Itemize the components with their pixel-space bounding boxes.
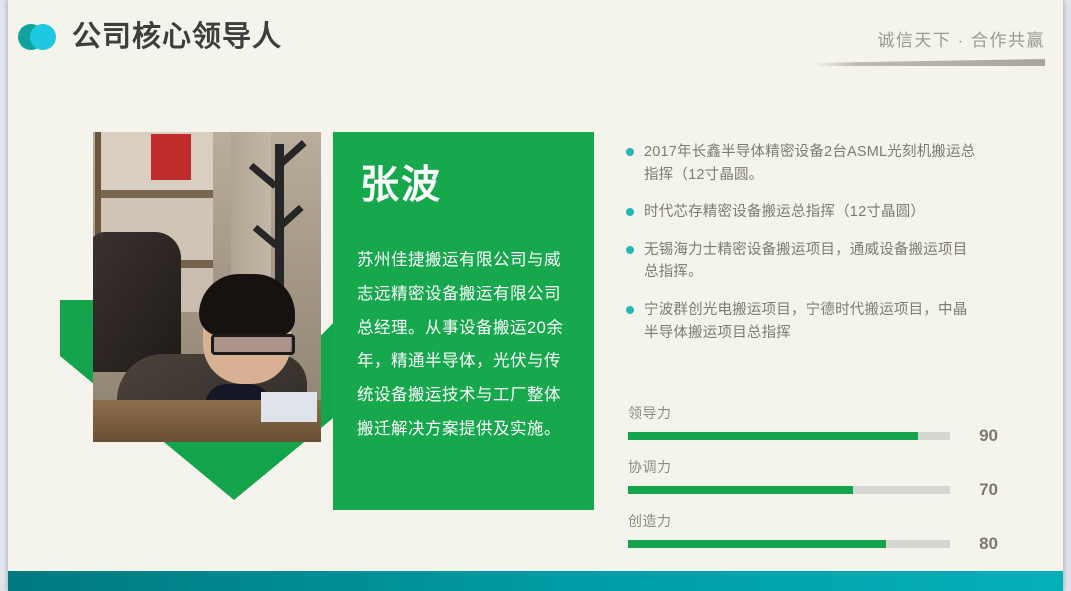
footer-bar <box>8 571 1063 591</box>
achievement-text: 宁波群创光电搬运项目，宁德时代搬运项目，中晶半导体搬运项目总指挥 <box>644 302 967 341</box>
skill-progress-fill <box>628 540 886 548</box>
skill-value: 80 <box>958 535 998 552</box>
skill-row: 协调力70 <box>628 457 998 498</box>
skill-progress-track <box>628 486 950 494</box>
photo-paper <box>261 392 317 422</box>
circle-front-icon <box>30 24 56 50</box>
page-title: 公司核心领导人 <box>72 23 282 52</box>
skill-row: 领导力90 <box>628 403 998 444</box>
bullet-dot-icon <box>626 208 634 216</box>
photo-red-box <box>151 134 191 180</box>
skill-progress-track <box>628 540 950 548</box>
skill-progress-fill <box>628 486 853 494</box>
brand-circles-icon <box>18 22 62 52</box>
skill-label: 领导力 <box>628 403 998 423</box>
skill-progress-fill <box>628 432 918 440</box>
skill-label: 协调力 <box>628 457 998 477</box>
achievement-item: 时代芯存精密设备搬运总指挥（12寸晶圆） <box>626 201 978 224</box>
slogan-group: 诚信天下 · 合作共赢 <box>815 26 1045 66</box>
skill-value: 90 <box>958 427 998 444</box>
profile-photo <box>93 132 321 442</box>
profile-description: 苏州佳捷搬运有限公司与威志远精密设备搬运有限公司总经理。从事设备搬运20余年，精… <box>357 244 571 447</box>
profile-name: 张波 <box>360 166 442 205</box>
skill-value: 70 <box>958 481 998 498</box>
skills-section: 领导力90协调力70创造力80 <box>628 403 998 565</box>
achievement-list: 2017年长鑫半导体精密设备2台ASML光刻机搬运总指挥（12寸晶圆。时代芯存精… <box>626 141 978 359</box>
achievement-item: 无锡海力士精密设备搬运项目，通威设备搬运项目总指挥。 <box>626 239 978 284</box>
page-header: 公司核心领导人 <box>18 22 282 52</box>
slogan-text: 诚信天下 · 合作共赢 <box>815 26 1045 51</box>
achievement-text: 无锡海力士精密设备搬运项目，通威设备搬运项目总指挥。 <box>644 242 967 281</box>
bullet-dot-icon <box>626 306 634 314</box>
photo-person-hair <box>199 274 295 336</box>
profile-bio-card: 张波 苏州佳捷搬运有限公司与威志远精密设备搬运有限公司总经理。从事设备搬运20余… <box>333 132 594 510</box>
bullet-dot-icon <box>626 246 634 254</box>
bullet-dot-icon <box>626 148 634 156</box>
slogan-underline-rule <box>815 59 1045 66</box>
photo-person-glasses <box>211 334 295 355</box>
achievement-item: 宁波群创光电搬运项目，宁德时代搬运项目，中晶半导体搬运项目总指挥 <box>626 299 978 344</box>
skill-progress-track <box>628 432 950 440</box>
slide-canvas: 公司核心领导人 诚信天下 · 合作共赢 张波 苏州佳捷搬运有限公司与威志远精密设… <box>8 0 1063 591</box>
skill-label: 创造力 <box>628 511 998 531</box>
achievement-item: 2017年长鑫半导体精密设备2台ASML光刻机搬运总指挥（12寸晶圆。 <box>626 141 978 186</box>
skill-track-wrap: 70 <box>628 481 998 498</box>
achievement-text: 时代芯存精密设备搬运总指挥（12寸晶圆） <box>644 204 925 220</box>
skill-row: 创造力80 <box>628 511 998 552</box>
skill-track-wrap: 90 <box>628 427 998 444</box>
achievement-text: 2017年长鑫半导体精密设备2台ASML光刻机搬运总指挥（12寸晶圆。 <box>644 144 976 183</box>
photo-office-chair <box>93 232 181 372</box>
skill-track-wrap: 80 <box>628 535 998 552</box>
